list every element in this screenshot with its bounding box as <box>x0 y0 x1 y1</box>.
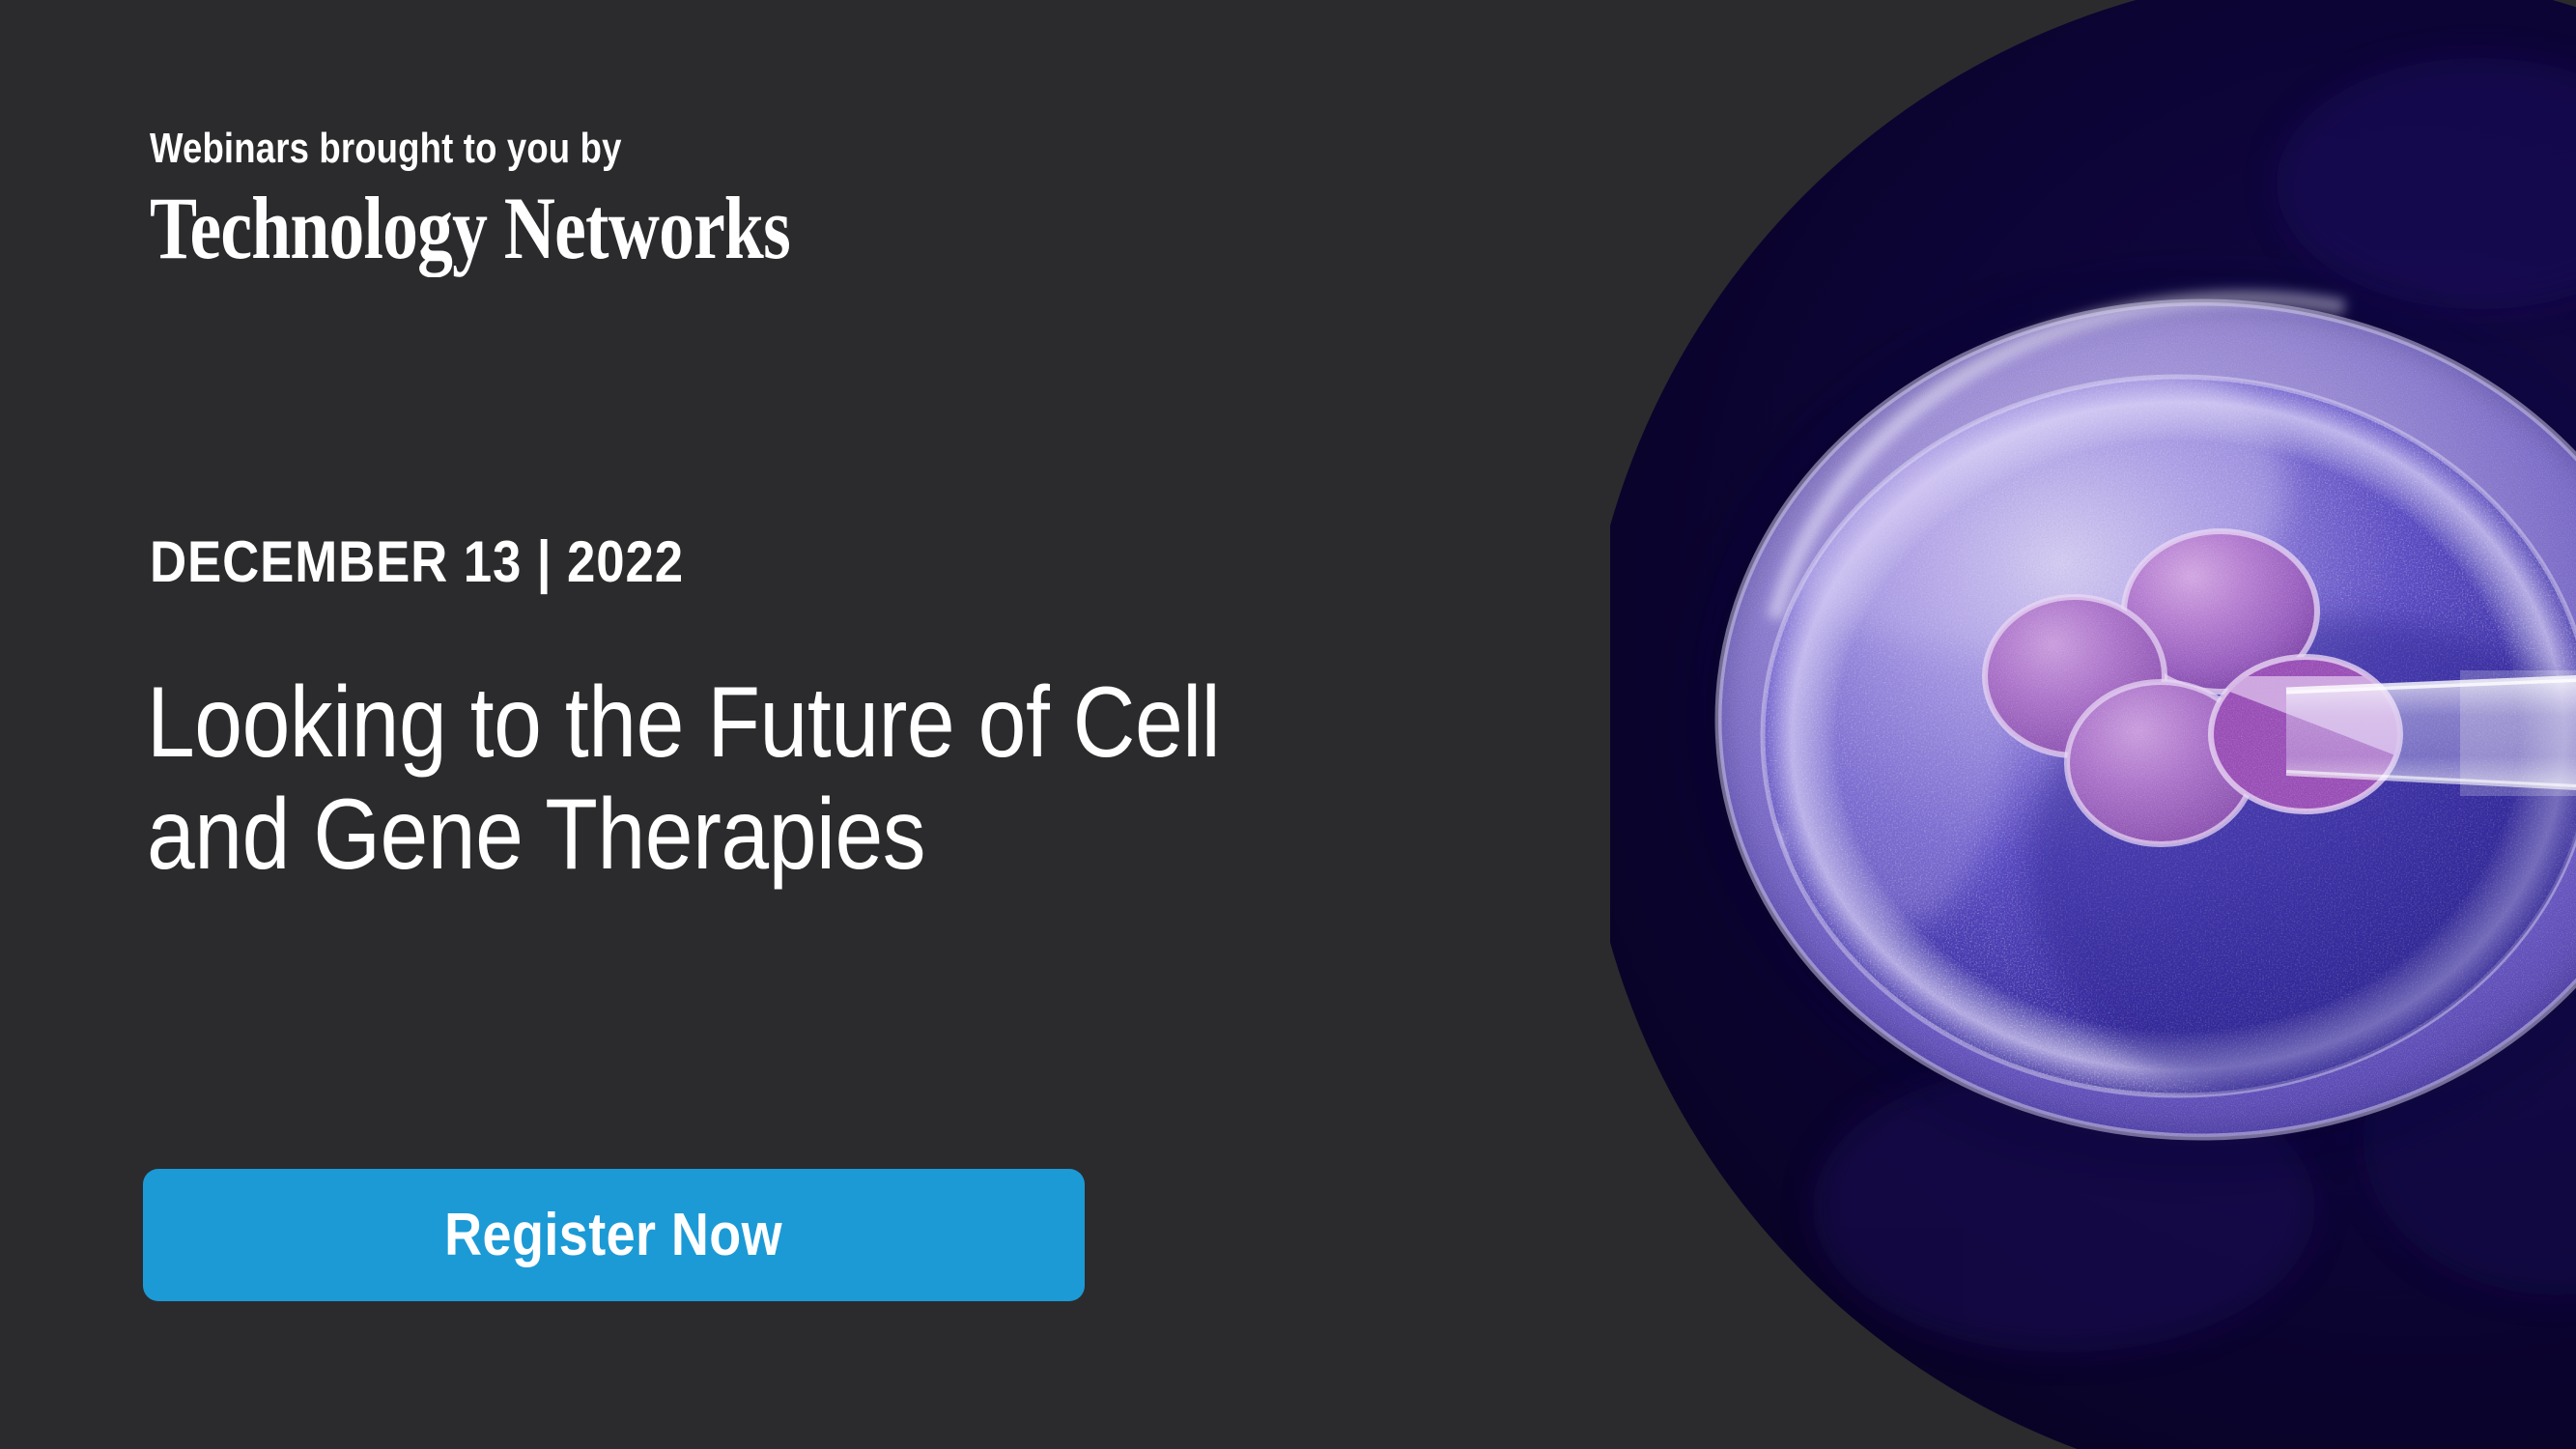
event-title: Looking to the Future of Cell and Gene T… <box>147 667 1492 892</box>
webinar-promo-banner: Webinars brought to you by Technology Ne… <box>0 0 2576 1449</box>
brand-kicker: Webinars brought to you by <box>150 128 814 170</box>
event-title-line-1: Looking to the Future of Cell <box>147 667 1492 779</box>
register-now-label: Register Now <box>445 1201 783 1269</box>
micropipette <box>2286 670 2576 796</box>
brand-wordmark: Technology Networks <box>150 184 790 272</box>
brand-logo: Webinars brought to you by Technology Ne… <box>150 128 950 272</box>
event-date: DECEMBER 13 | 2022 <box>150 533 684 591</box>
cell-artwork <box>1610 0 2576 1449</box>
event-title-line-2: and Gene Therapies <box>147 779 1492 891</box>
register-now-button[interactable]: Register Now <box>143 1169 1085 1301</box>
banner-content: Webinars brought to you by Technology Ne… <box>0 0 1700 1449</box>
